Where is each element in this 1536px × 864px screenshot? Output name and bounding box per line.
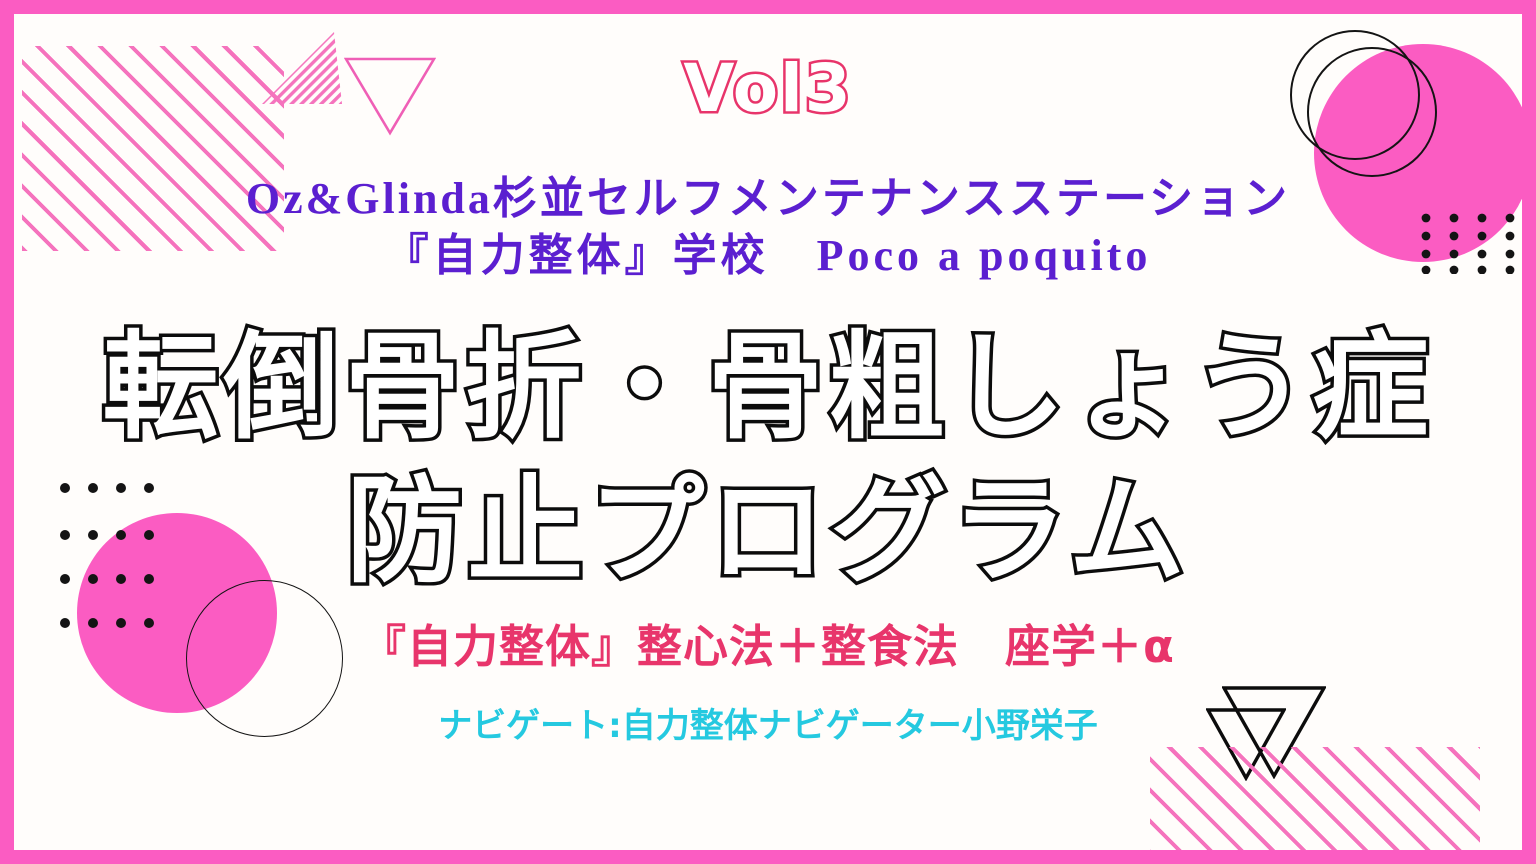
navigator-credit-line: ナビゲート:自力整体ナビゲーター小野栄子 [14,698,1522,747]
diagonal-stripes-bottom-right-decoration [1150,747,1480,850]
headline-line-2: 防止プログラム [14,437,1522,605]
poster-inner-stage: Vol3 Oz&Glinda杉並セルフメンテナンスステーション 『自力整体』学校… [14,14,1522,850]
program-description-line: 『自力整体』整心法＋整食法 座学＋α [14,610,1522,675]
headline-line-1: 転倒骨折・骨粗しょう症 [14,293,1522,461]
poster-canvas: Vol3 Oz&Glinda杉並セルフメンテナンスステーション 『自力整体』学校… [0,0,1536,864]
organization-name-line-1: Oz&Glinda杉並セルフメンテナンスステーション [14,162,1522,226]
volume-badge: Vol3 [14,50,1522,127]
organization-name-line-2: 『自力整体』学校 Poco a poquito [14,219,1522,283]
